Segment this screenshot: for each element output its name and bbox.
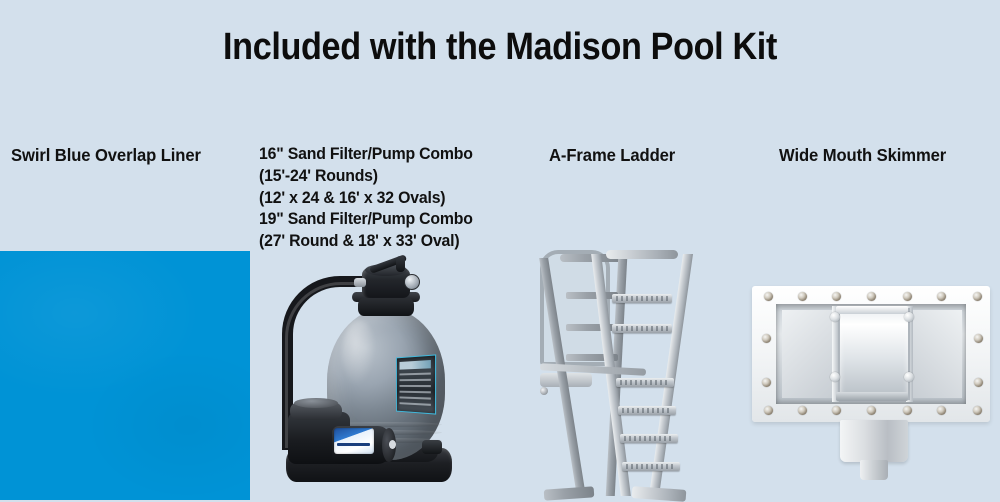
pump-motor-cap <box>389 440 396 449</box>
pool-kit-graphic: Included with the Madison Pool Kit Swirl… <box>0 0 1000 500</box>
skimmer-screw <box>974 378 983 387</box>
pump-brand-label <box>334 428 374 454</box>
skimmer-screw <box>937 406 946 415</box>
filter-spec-sticker <box>396 354 436 414</box>
skimmer-screw <box>798 292 807 301</box>
skimmer-weir-bolt <box>904 312 914 322</box>
skimmer-screw <box>867 292 876 301</box>
skimmer-weir-bolt <box>830 372 840 382</box>
ladder-step <box>612 294 672 303</box>
skimmer-screw <box>832 292 841 301</box>
filter-label-line-1: 16" Sand Filter/Pump Combo <box>259 144 473 166</box>
skimmer-screw <box>974 334 983 343</box>
skimmer-screw <box>832 406 841 415</box>
skimmer-screw <box>762 334 771 343</box>
skimmer-screw <box>798 406 807 415</box>
filter-label-line-4: 19" Sand Filter/Pump Combo <box>259 209 473 231</box>
ladder-back-rung <box>566 292 618 299</box>
ladder-step <box>618 406 676 415</box>
item-label-skimmer: Wide Mouth Skimmer <box>779 145 946 166</box>
skimmer-screw <box>903 406 912 415</box>
skimmer-screw <box>762 378 771 387</box>
skimmer-screw <box>973 292 982 301</box>
skimmer-weir-bolt <box>904 372 914 382</box>
ladder-step <box>616 378 674 387</box>
skimmer-weir-door <box>838 308 910 400</box>
ladder-step <box>612 324 672 333</box>
skimmer-screw <box>937 292 946 301</box>
item-label-liner: Swirl Blue Overlap Liner <box>11 145 201 166</box>
filter-tank-highlight <box>342 320 376 386</box>
pump-strainer-lid <box>294 398 338 408</box>
skimmer-screw <box>867 406 876 415</box>
ladder-back-foot <box>544 486 595 500</box>
item-label-ladder: A-Frame Ladder <box>549 145 675 166</box>
valve-inlet-port <box>354 278 366 287</box>
filter-label-line-3: (12' x 24 & 16' x 32 Ovals) <box>259 188 473 210</box>
ladder-step <box>620 434 678 443</box>
skimmer-screw <box>764 292 773 301</box>
ladder-hinge-bolt <box>540 387 548 395</box>
skimmer-throat-right-wall <box>906 310 962 398</box>
a-frame-ladder-image <box>540 250 700 500</box>
item-label-filter: 16" Sand Filter/Pump Combo (15'-24' Roun… <box>259 144 473 253</box>
page-title: Included with the Madison Pool Kit <box>50 26 950 69</box>
skimmer-screw <box>903 292 912 301</box>
filter-label-line-5: (27' Round & 18' x 33' Oval) <box>259 231 473 253</box>
filter-label-line-2: (15'-24' Rounds) <box>259 166 473 188</box>
ladder-front-top-rail <box>606 250 678 259</box>
skimmer-throat-left-wall <box>782 310 838 398</box>
ladder-step <box>622 462 680 471</box>
sand-filter-pump-image <box>272 262 472 500</box>
liner-swatch-image <box>0 251 250 500</box>
filter-drain-cap <box>422 440 442 454</box>
pressure-gauge <box>404 274 420 290</box>
skimmer-weir-top-edge <box>836 306 908 314</box>
skimmer-screw <box>973 406 982 415</box>
ladder-front-right-rail <box>649 254 693 496</box>
skimmer-weir-bottom-edge <box>836 392 908 401</box>
valve-handle-grip <box>396 256 405 272</box>
wide-mouth-skimmer-image <box>748 286 994 482</box>
skimmer-body <box>840 420 908 462</box>
skimmer-screw <box>764 406 773 415</box>
skimmer-outlet-port <box>860 460 888 480</box>
filter-neck <box>358 298 414 316</box>
skimmer-weir-bolt <box>830 312 840 322</box>
